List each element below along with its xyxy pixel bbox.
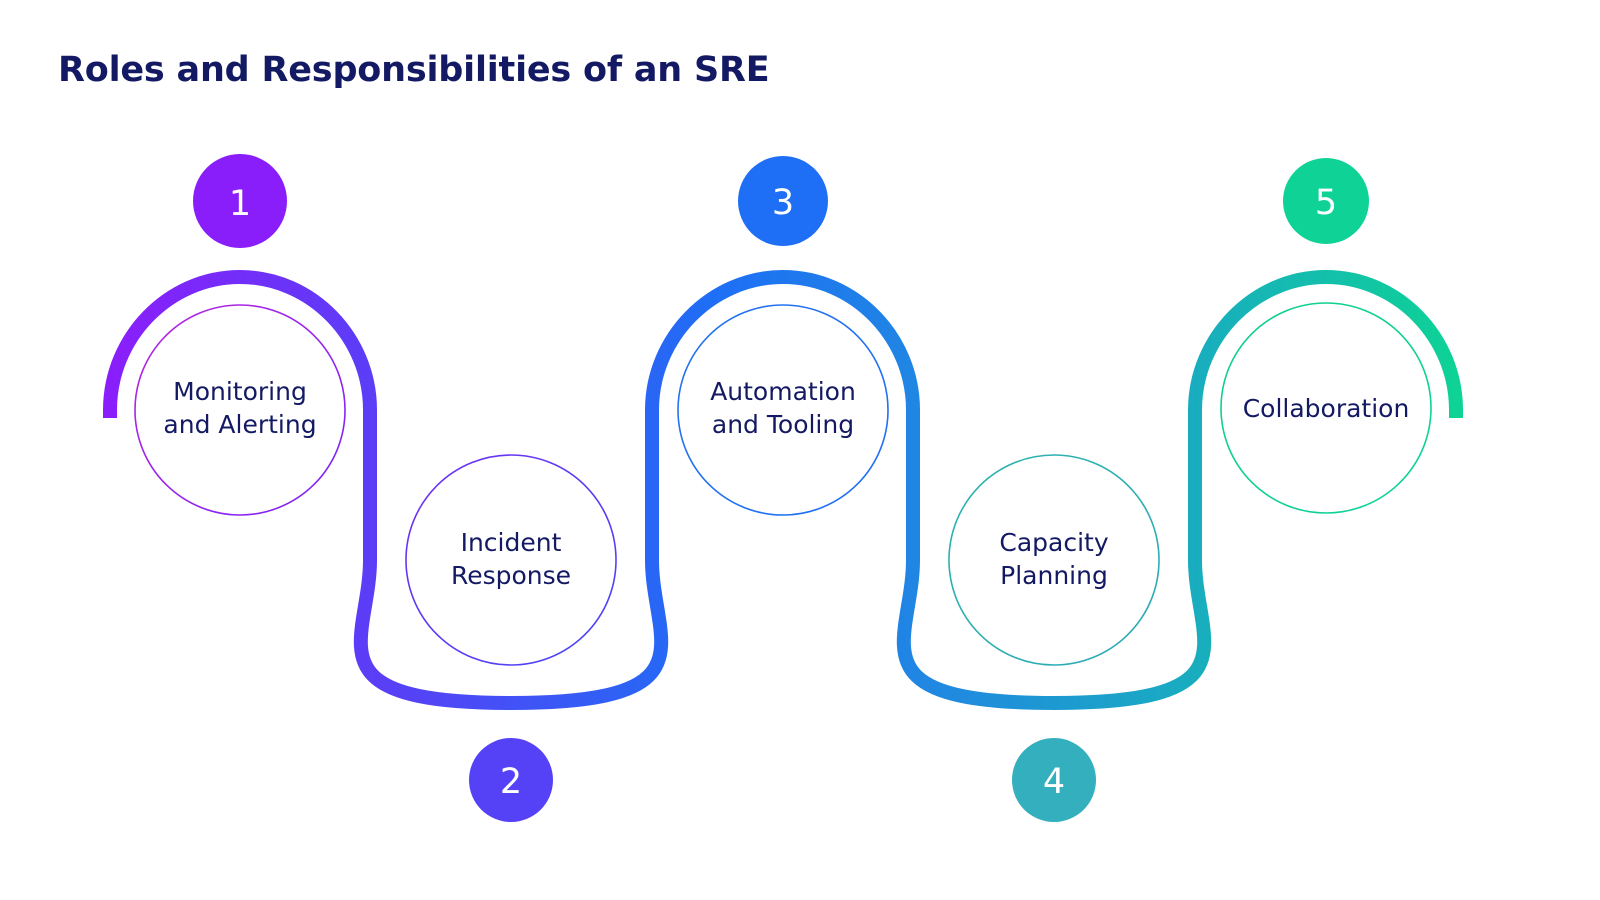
step-4-outline-circle — [949, 455, 1159, 665]
step-1-label-line-2: and Alerting — [163, 410, 316, 439]
step-3-group[interactable]: Automation and Tooling 3 — [678, 156, 888, 515]
step-2-label-line-2: Response — [451, 561, 571, 590]
step-4-group[interactable]: Capacity Planning 4 — [949, 455, 1159, 822]
step-5-number-text: 5 — [1315, 183, 1337, 223]
wave-connector — [110, 277, 1456, 703]
step-4-label-line-1: Capacity — [999, 528, 1108, 557]
step-2-number-text: 2 — [500, 762, 522, 802]
step-1-group[interactable]: Monitoring and Alerting 1 — [135, 154, 345, 515]
step-5-group[interactable]: Collaboration 5 — [1221, 158, 1431, 513]
step-3-label-line-2: and Tooling — [712, 410, 854, 439]
step-1-label-line-1: Monitoring — [173, 377, 307, 406]
step-5-label-line-1: Collaboration — [1243, 394, 1410, 423]
step-4-number-text: 4 — [1043, 762, 1065, 802]
step-2-outline-circle — [406, 455, 616, 665]
step-4-label-line-2: Planning — [1000, 561, 1108, 590]
step-3-number-text: 3 — [772, 183, 794, 223]
step-3-label-line-1: Automation — [710, 377, 856, 406]
process-flow-diagram: Monitoring and Alerting 1 Incident Respo… — [0, 0, 1600, 900]
step-1-number-text: 1 — [229, 184, 251, 224]
step-2-label-line-1: Incident — [461, 528, 562, 557]
step-2-group[interactable]: Incident Response 2 — [406, 455, 616, 822]
slide-canvas: Roles and Responsibilities of an SRE — [0, 0, 1600, 900]
